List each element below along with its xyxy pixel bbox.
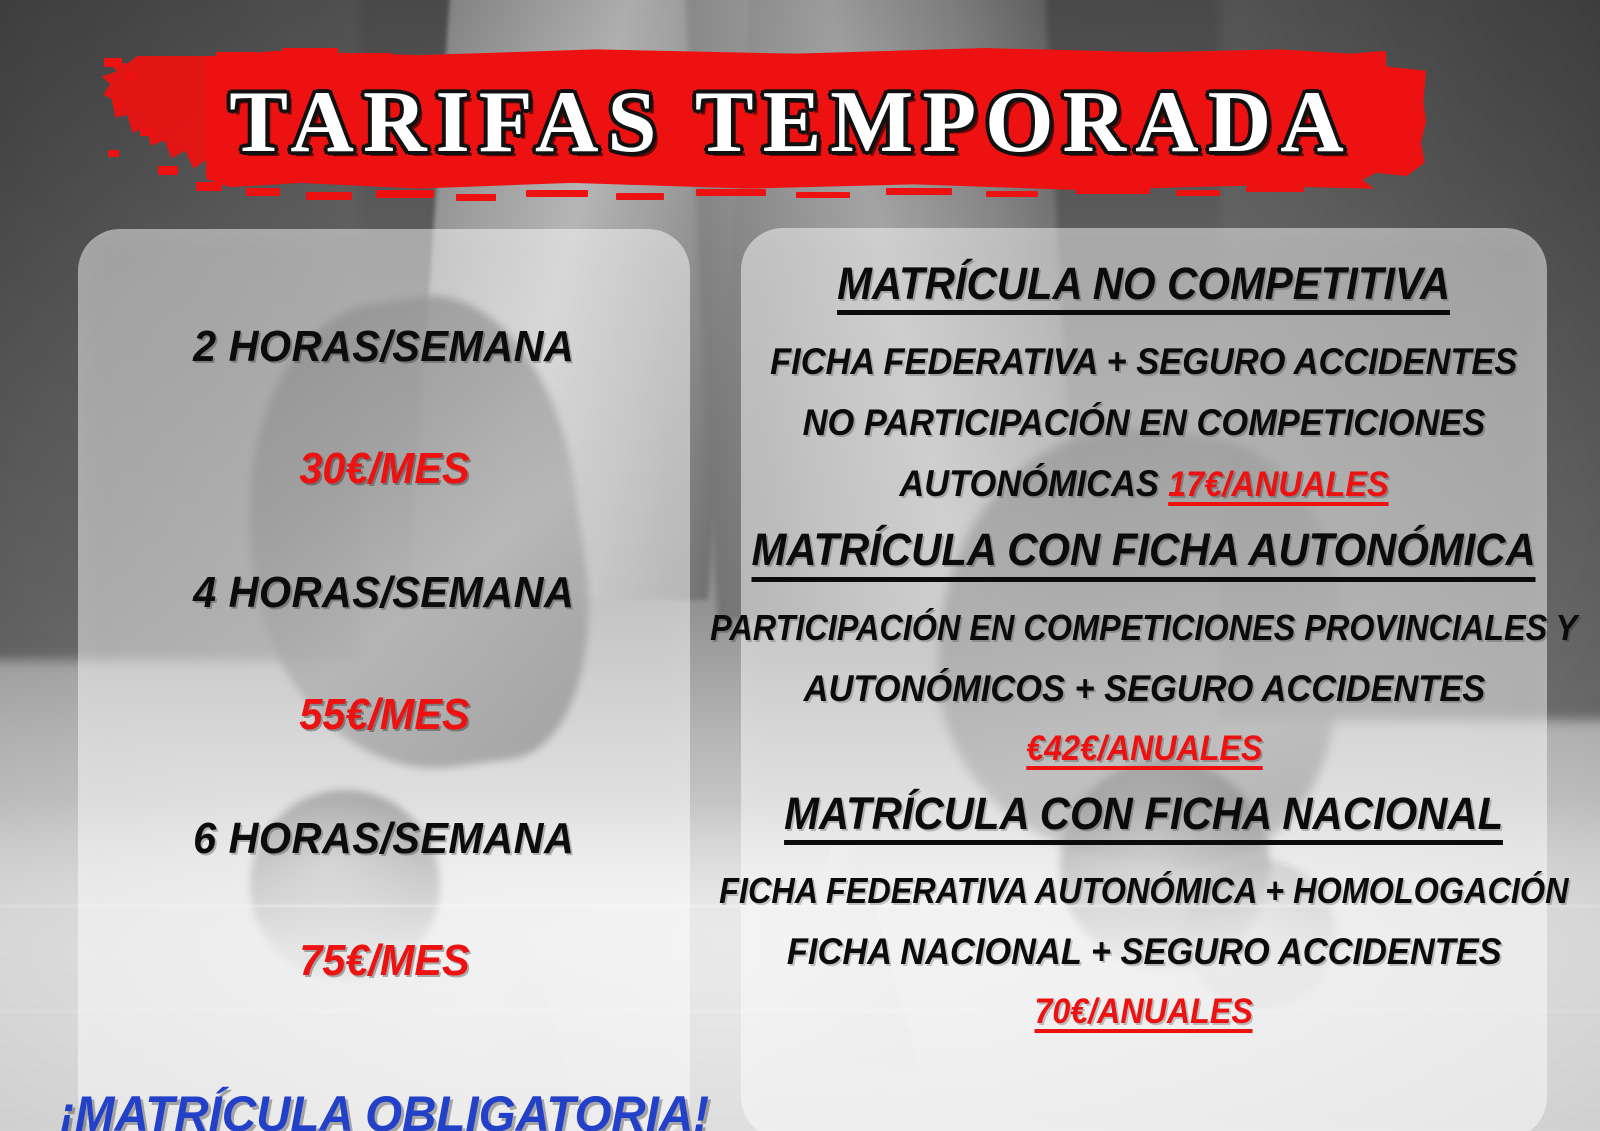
registration-line-1-2: NO PARTICIPACIÓN EN COMPETICIONES xyxy=(803,404,1486,441)
registration-heading-1: MATRÍCULA NO COMPETITIVA xyxy=(838,260,1451,315)
enrollment-required-note: ¡MATRÍCULA OBLIGATORIA! xyxy=(59,1089,709,1131)
registration-line-2-2: AUTONÓMICOS + SEGURO ACCIDENTES xyxy=(803,670,1485,707)
hours-price-3: 75€/MES xyxy=(299,939,469,983)
hours-price-list: 2 HORAS/SEMANA 30€/MES 4 HORAS/SEMANA 55… xyxy=(78,229,690,1131)
registration-heading-2: MATRÍCULA CON FICHA AUTONÓMICA xyxy=(752,526,1536,581)
registration-line-2-1: PARTICIPACIÓN EN COMPETICIONES PROVINCIA… xyxy=(710,610,1577,646)
registration-block-list: MATRÍCULA NO COMPETITIVA FICHA FEDERATIV… xyxy=(741,228,1547,1131)
registration-amount-1: 17€/ANUALES xyxy=(1168,467,1389,506)
registration-line-1-1: FICHA FEDERATIVA + SEGURO ACCIDENTES xyxy=(770,343,1517,380)
pricing-panel-hours: 2 HORAS/SEMANA 30€/MES 4 HORAS/SEMANA 55… xyxy=(78,229,690,1131)
registration-amount-2: €42€/ANUALES xyxy=(1026,731,1262,770)
pricing-panel-registration: MATRÍCULA NO COMPETITIVA FICHA FEDERATIV… xyxy=(741,228,1547,1131)
registration-line-1-3-prefix: AUTONÓMICAS xyxy=(899,463,1158,504)
registration-heading-3: MATRÍCULA CON FICHA NACIONAL xyxy=(784,790,1503,845)
registration-amount-3: 70€/ANUALES xyxy=(1035,994,1253,1033)
registration-line-1-3: AUTONÓMICAS17€/ANUALES xyxy=(899,465,1388,506)
poster-root: TARIFAS TEMPORADA 2 HORAS/SEMANA 30€/MES… xyxy=(0,0,1600,1131)
registration-line-3-2: FICHA NACIONAL + SEGURO ACCIDENTES xyxy=(787,933,1502,970)
hours-label-2: 4 HORAS/SEMANA xyxy=(193,571,574,615)
page-title: TARIFAS TEMPORADA xyxy=(96,42,1426,202)
hours-label-3: 6 HORAS/SEMANA xyxy=(193,817,574,861)
registration-line-3-1: FICHA FEDERATIVA AUTONÓMICA + HOMOLOGACI… xyxy=(719,873,1568,909)
hours-label-1: 2 HORAS/SEMANA xyxy=(193,325,574,369)
hours-price-1: 30€/MES xyxy=(299,447,469,491)
hours-price-2: 55€/MES xyxy=(299,693,469,737)
header-banner: TARIFAS TEMPORADA xyxy=(96,42,1426,202)
